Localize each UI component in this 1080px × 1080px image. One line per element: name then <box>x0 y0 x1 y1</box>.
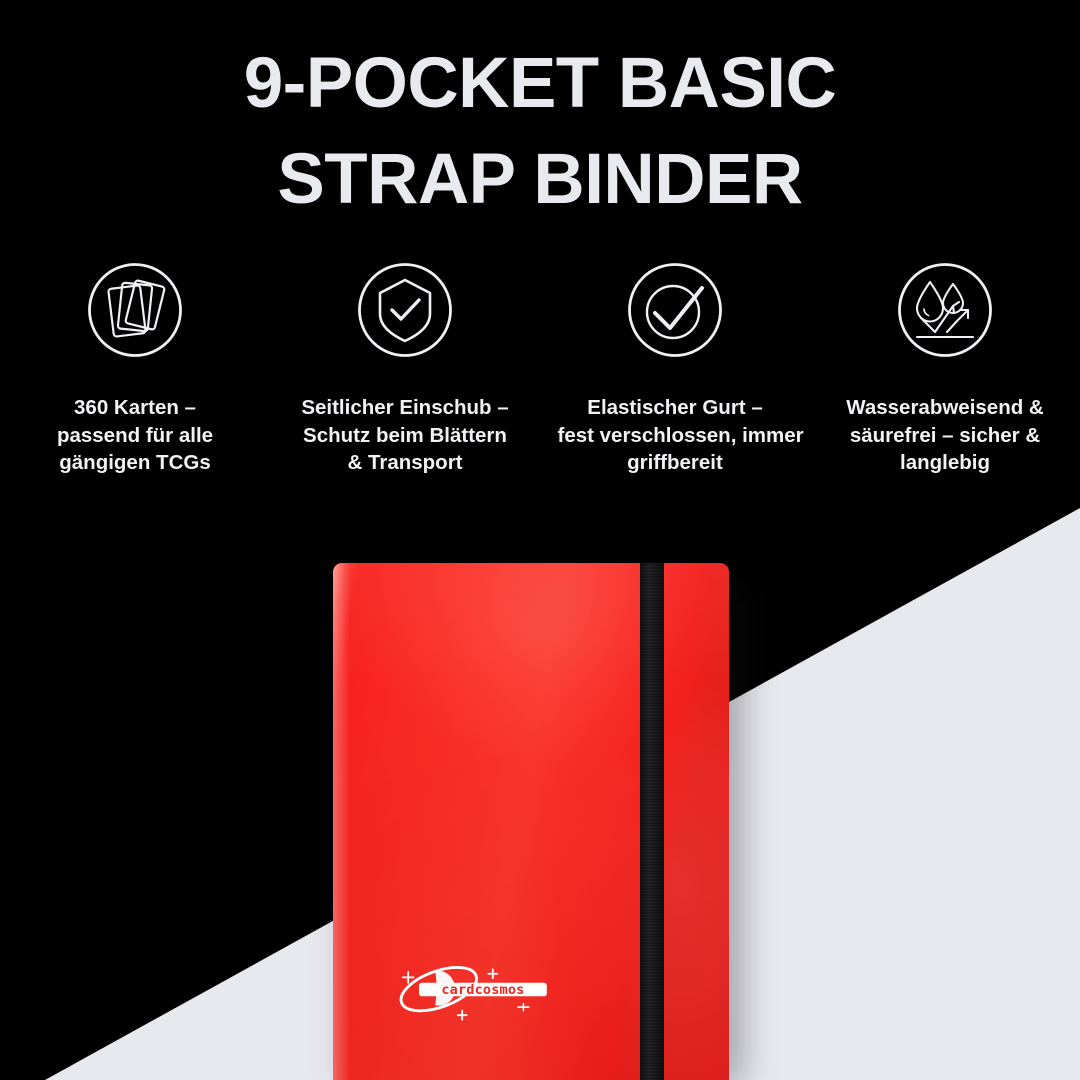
page-title: 9-POCKET BASIC STRAP BINDER <box>0 36 1080 228</box>
feature-line-1: Elastischer Gurt – <box>558 394 793 422</box>
feature-line-2: passend für alle <box>18 422 253 450</box>
product-image-binder: cardcosmos <box>333 563 729 1080</box>
feature-line-2: Schutz beim Blättern <box>288 422 523 450</box>
water-repellent-icon <box>897 262 993 358</box>
headline-line-2: STRAP BINDER <box>0 132 1080 228</box>
brand-logo-text: cardcosmos <box>441 982 524 998</box>
product-banner: 9-POCKET BASIC STRAP BINDER 360 Karten –… <box>0 0 1080 1080</box>
feature-line-3: langlebig <box>828 449 1063 477</box>
feature-item-card-capacity: 360 Karten – passend für alle gängigen T… <box>0 262 270 477</box>
feature-text-card-capacity: 360 Karten – passend für alle gängigen T… <box>18 394 253 477</box>
product-elastic-strap <box>640 563 664 1080</box>
feature-line-1: Seitlicher Einschub – <box>288 394 523 422</box>
headline-line-1: 9-POCKET BASIC <box>0 36 1080 132</box>
feature-line-3: & Transport <box>288 449 523 477</box>
feature-list: 360 Karten – passend für alle gängigen T… <box>0 262 1080 477</box>
feature-item-side-loading: Seitlicher Einschub – Schutz beim Blätte… <box>270 262 540 477</box>
circle-check-icon <box>627 262 723 358</box>
feature-line-1: 360 Karten – <box>18 394 253 422</box>
feature-line-2: säurefrei – sicher & <box>828 422 1063 450</box>
feature-line-3: griffbereit <box>558 449 793 477</box>
feature-item-water-resistant: Wasserabweisend & säurefrei – sicher & l… <box>810 262 1080 477</box>
feature-text-side-loading: Seitlicher Einschub – Schutz beim Blätte… <box>288 394 523 477</box>
feature-text-elastic-strap: Elastischer Gurt – fest verschlossen, im… <box>558 394 793 477</box>
feature-item-elastic-strap: Elastischer Gurt – fest verschlossen, im… <box>540 262 810 477</box>
feature-line-2: fest verschlossen, immer <box>558 422 793 450</box>
product-spine-edge <box>333 563 349 1080</box>
card-stack-icon <box>87 262 183 358</box>
feature-text-water-resistant: Wasserabweisend & säurefrei – sicher & l… <box>828 394 1063 477</box>
shield-check-icon <box>357 262 453 358</box>
feature-line-1: Wasserabweisend & <box>828 394 1063 422</box>
brand-logo-cardcosmos: cardcosmos <box>383 953 563 1027</box>
feature-line-3: gängigen TCGs <box>18 449 253 477</box>
